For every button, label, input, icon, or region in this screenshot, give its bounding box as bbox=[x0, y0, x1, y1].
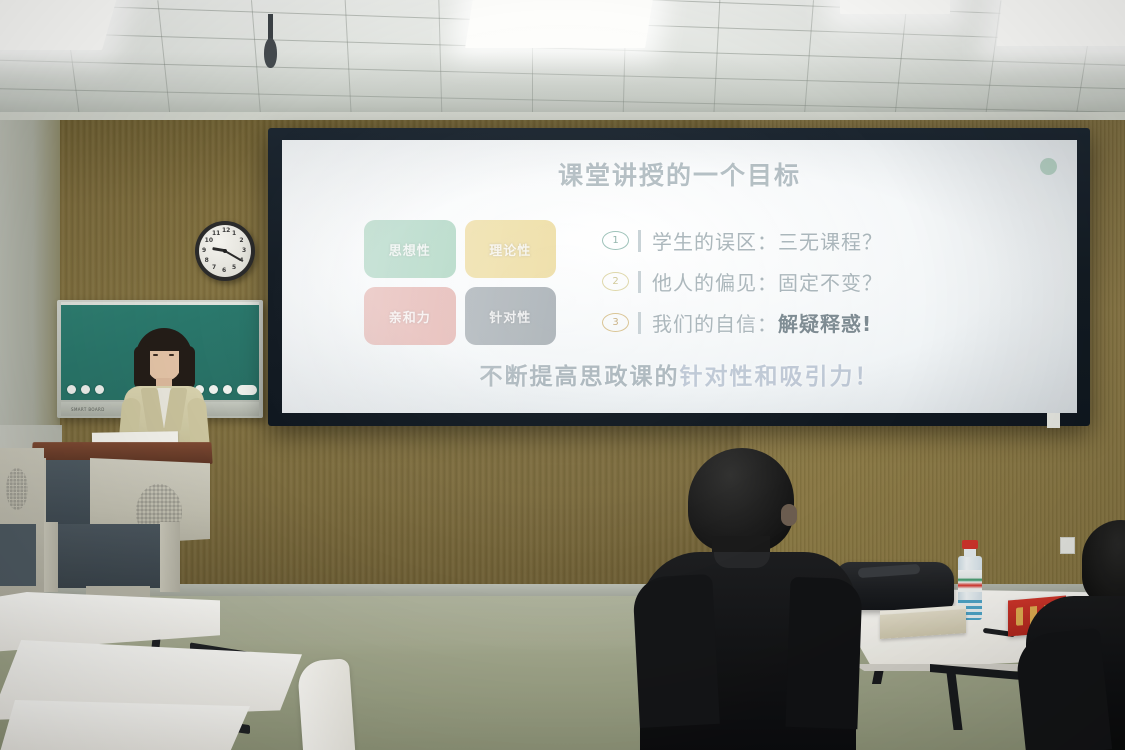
whiteboard-slider[interactable] bbox=[237, 385, 257, 395]
whiteboard-button-3[interactable] bbox=[95, 385, 104, 394]
observer-front-center bbox=[640, 448, 856, 750]
list-text-1: 学生的误区：三无课程？ bbox=[652, 226, 883, 255]
ceiling-light-3 bbox=[840, 0, 950, 14]
key-box-lilunxing: 理论性 bbox=[465, 220, 557, 278]
wall-clock: 121234567891011 bbox=[195, 221, 255, 281]
presenter-hair-right bbox=[179, 346, 195, 390]
list-lead-3: 我们的自信： bbox=[652, 312, 778, 336]
ceiling bbox=[0, 0, 1125, 128]
presenter-eye-left bbox=[153, 354, 158, 356]
whiteboard-brand-label: SMART BOARD bbox=[71, 407, 105, 412]
clock-face: 121234567891011 bbox=[199, 225, 251, 277]
ceiling-light-1 bbox=[0, 0, 118, 50]
observer-shoulder-left bbox=[632, 574, 720, 728]
side-cabinet bbox=[0, 448, 44, 600]
list-divider-3 bbox=[638, 312, 641, 334]
whiteboard-button-7[interactable] bbox=[223, 385, 232, 394]
list-emph-2: 固定不变？ bbox=[778, 271, 883, 295]
lectern-lower-panel bbox=[54, 524, 166, 588]
clock-numeral: 4 bbox=[239, 258, 243, 264]
slide-list-item: 2 他人的偏见：固定不变？ bbox=[602, 261, 1022, 302]
ceiling-light-4 bbox=[996, 0, 1125, 46]
list-number-1: 1 bbox=[602, 231, 629, 250]
slide-footer-text: 不断提高思政课的针对性和吸引力！ bbox=[282, 357, 1077, 391]
lectern-left-panel bbox=[44, 460, 94, 526]
clock-numeral: 11 bbox=[212, 231, 220, 237]
clock-numeral: 6 bbox=[222, 268, 226, 274]
whiteboard-button-1[interactable] bbox=[67, 385, 76, 394]
observer-collar bbox=[714, 552, 770, 568]
whiteboard-button-2[interactable] bbox=[81, 385, 90, 394]
clock-center-pin bbox=[223, 249, 227, 253]
clock-numeral: 2 bbox=[239, 238, 243, 244]
side-cabinet-panel bbox=[0, 524, 36, 586]
wall-switch[interactable] bbox=[1047, 413, 1060, 428]
bottle-label bbox=[958, 570, 982, 592]
key-box-zhenduixing: 针对性 bbox=[465, 287, 557, 345]
chair bbox=[297, 658, 355, 750]
presenter-hair-left bbox=[134, 346, 150, 390]
clock-numeral: 12 bbox=[222, 228, 230, 234]
lectern[interactable] bbox=[32, 438, 230, 598]
clock-numeral: 1 bbox=[232, 231, 236, 237]
list-number-3: 3 bbox=[602, 313, 629, 332]
observer-head bbox=[1082, 520, 1125, 606]
side-cabinet-grille-icon bbox=[6, 468, 28, 510]
lectern-column-right bbox=[160, 522, 180, 592]
presenter-hair-front bbox=[145, 336, 183, 351]
clock-numeral: 5 bbox=[232, 265, 236, 271]
ceiling-microphone-icon bbox=[264, 38, 277, 68]
list-text-3: 我们的自信：解疑释惑! bbox=[652, 308, 872, 337]
ceiling-light-2 bbox=[465, 0, 655, 48]
slide-list-item: 3 我们的自信：解疑释惑! bbox=[602, 302, 1022, 343]
list-lead-2: 他人的偏见： bbox=[652, 271, 778, 295]
slide-title: 课堂讲授的一个目标 bbox=[282, 156, 1077, 192]
key-box-qinheli: 亲和力 bbox=[364, 287, 456, 345]
classroom-photo: 121234567891011 SMART BOARD 课堂讲授的一个目标 思想… bbox=[0, 0, 1125, 750]
list-divider-1 bbox=[638, 230, 641, 252]
list-text-2: 他人的偏见：固定不变？ bbox=[652, 267, 883, 296]
presenter-eye-right bbox=[169, 354, 174, 356]
clock-numeral: 10 bbox=[205, 238, 213, 244]
slide-logo-icon bbox=[1040, 158, 1057, 175]
list-lead-1: 学生的误区： bbox=[652, 230, 778, 254]
clock-numeral: 8 bbox=[205, 258, 209, 264]
list-emph-3: 解疑释惑! bbox=[778, 312, 872, 336]
list-divider-2 bbox=[638, 271, 641, 293]
observer-shoulder-right bbox=[785, 577, 862, 729]
list-number-2: 2 bbox=[602, 272, 629, 291]
slide-footer-highlight: 针对性和吸引力！ bbox=[680, 364, 880, 390]
slide-numbered-list: 1 学生的误区：三无课程？ 2 他人的偏见：固定不变？ 3 我们的自信：解疑释惑… bbox=[602, 220, 1022, 343]
observer-ear bbox=[781, 504, 797, 526]
bottle-cap bbox=[962, 540, 978, 549]
key-box-sixiangxing: 思想性 bbox=[364, 220, 456, 278]
bottle-neck bbox=[964, 549, 976, 557]
list-emph-1: 三无课程？ bbox=[778, 230, 883, 254]
slide-list-item: 1 学生的误区：三无课程？ bbox=[602, 220, 1022, 261]
foreground-table bbox=[0, 700, 250, 750]
slide-footer-plain: 不断提高思政课的 bbox=[480, 364, 680, 390]
slide-surface[interactable]: 课堂讲授的一个目标 思想性 理论性 亲和力 针对性 1 学生的误区：三无课程？ … bbox=[282, 140, 1077, 413]
slide-key-boxes: 思想性 理论性 亲和力 针对性 bbox=[364, 220, 556, 345]
whiteboard-button-6[interactable] bbox=[209, 385, 218, 394]
clock-numeral: 3 bbox=[242, 248, 246, 254]
projection-display[interactable]: 课堂讲授的一个目标 思想性 理论性 亲和力 针对性 1 学生的误区：三无课程？ … bbox=[268, 128, 1090, 426]
clock-numeral: 7 bbox=[212, 265, 216, 271]
observer-shoulder bbox=[1014, 628, 1112, 750]
clock-numeral: 9 bbox=[202, 248, 206, 254]
observer-right bbox=[1020, 520, 1125, 750]
